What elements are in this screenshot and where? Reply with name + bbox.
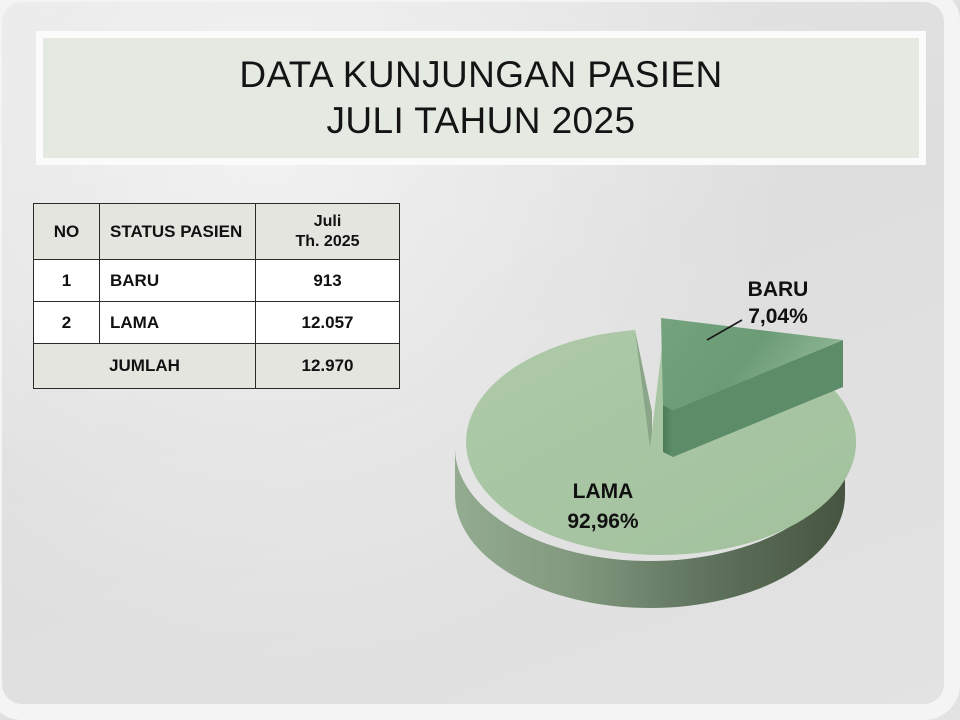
title-box: DATA KUNJUNGAN PASIEN JULI TAHUN 2025 [36,31,926,165]
cell-status-1: BARU [100,260,256,302]
table-row: 1 BARU 913 [34,260,400,302]
table-body: 1 BARU 913 2 LAMA 12.057 [34,260,400,344]
page-title-line-2: JULI TAHUN 2025 [327,98,636,144]
column-header-month: Juli [266,212,389,232]
title-inner-panel: DATA KUNJUNGAN PASIEN JULI TAHUN 2025 [43,38,919,158]
cell-no-2: 2 [34,302,100,344]
slide: DATA KUNJUNGAN PASIEN JULI TAHUN 2025 NO… [0,0,960,720]
column-header-status: STATUS PASIEN [100,204,256,260]
cell-value-1: 913 [256,260,400,302]
cell-total-label: JUMLAH [34,344,256,389]
cell-value-2: 12.057 [256,302,400,344]
cell-status-2: LAMA [100,302,256,344]
pie-slice-baru-side [663,405,673,457]
pie-label-lama-name: LAMA [573,480,634,503]
column-header-no: NO [34,204,100,260]
table-footer: JUMLAH 12.970 [34,344,400,389]
table-total-row: JUMLAH 12.970 [34,344,400,389]
pie-chart: BARU 7,04% LAMA 92,96% [430,250,930,630]
table-header-row: NO STATUS PASIEN Juli Th. 2025 [34,204,400,260]
cell-no-1: 1 [34,260,100,302]
patient-data-table: NO STATUS PASIEN Juli Th. 2025 1 BARU 91… [33,203,400,389]
column-header-period: Juli Th. 2025 [256,204,400,260]
column-header-year: Th. 2025 [266,232,389,252]
pie-label-baru-name: BARU [748,278,809,301]
pie-label-baru-pct: 7,04% [748,305,808,328]
table-header: NO STATUS PASIEN Juli Th. 2025 [34,204,400,260]
pie-label-lama-pct: 92,96% [567,510,639,533]
table-row: 2 LAMA 12.057 [34,302,400,344]
page-title-line-1: DATA KUNJUNGAN PASIEN [239,52,722,98]
cell-total-value: 12.970 [256,344,400,389]
